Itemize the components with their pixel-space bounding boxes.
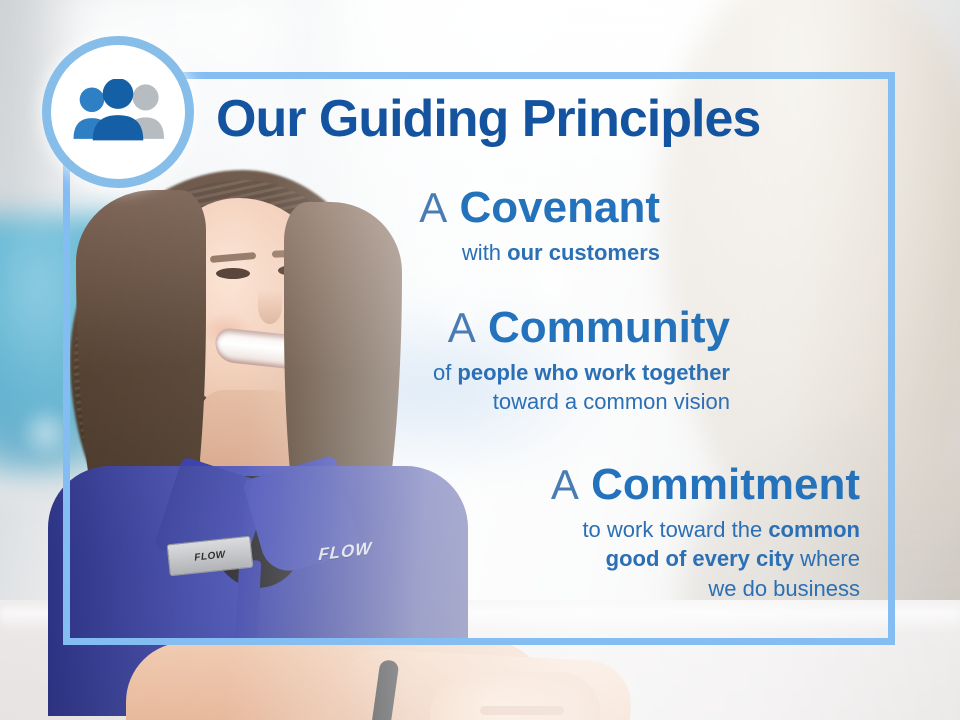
subtext-line-3: we do business xyxy=(551,574,860,604)
people-group-badge xyxy=(42,36,194,188)
principle-community: A Community of people who work together … xyxy=(433,305,730,417)
subtext-lead: to work toward the xyxy=(582,517,768,542)
subtext-line-1: of people who work together xyxy=(433,358,730,388)
graphic-banner: FLOW FLOW Our Guiding Principles A Co xyxy=(0,0,960,720)
principle-commitment: A Commitment to work toward the common g… xyxy=(551,462,860,604)
principle-covenant: A Covenant with our customers xyxy=(419,185,660,267)
subtext-bold: our customers xyxy=(507,240,660,265)
subtext-bold: common xyxy=(768,517,860,542)
subtext-bold: people who work together xyxy=(457,360,730,385)
article-text: A xyxy=(448,304,476,351)
principle-subtext: to work toward the common good of every … xyxy=(551,515,860,604)
principle-heading: A Commitment xyxy=(551,462,860,509)
keyword-text: Community xyxy=(488,303,730,352)
principle-heading: A Covenant xyxy=(419,185,660,232)
principle-subtext: of people who work together toward a com… xyxy=(433,358,730,417)
subtext-line-2: good of every city where xyxy=(551,544,860,574)
keyword-text: Covenant xyxy=(460,183,660,232)
subtext-tail: where xyxy=(794,546,860,571)
article-text: A xyxy=(419,184,447,231)
people-group-icon xyxy=(72,79,164,145)
page-title: Our Guiding Principles xyxy=(216,92,876,147)
principle-subtext: with our customers xyxy=(419,238,660,268)
principle-heading: A Community xyxy=(433,305,730,352)
subtext-lead: with xyxy=(462,240,507,265)
keyword-text: Commitment xyxy=(591,460,860,509)
subtext-line-1: to work toward the common xyxy=(551,515,860,545)
subtext-line-2: toward a common vision xyxy=(433,387,730,417)
subtext-bold-2: good of every city xyxy=(606,546,794,571)
article-text: A xyxy=(551,461,579,508)
subtext-lead: of xyxy=(433,360,457,385)
